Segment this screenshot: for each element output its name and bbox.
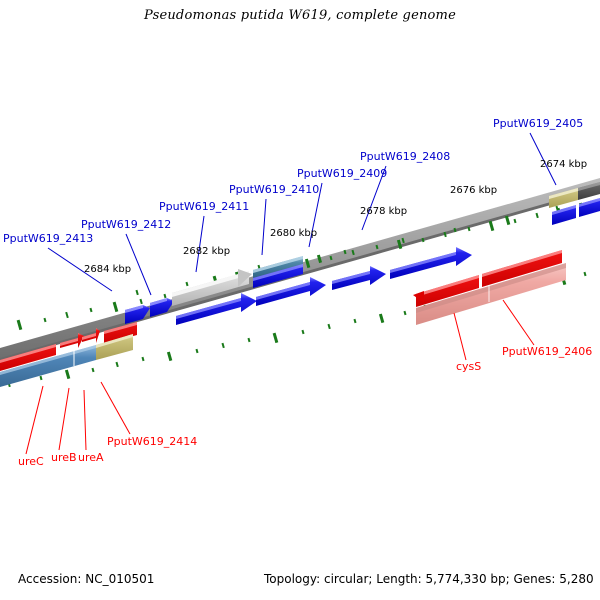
scale-label-2674-kbp: 2674 kbp xyxy=(540,159,587,170)
leader-line-ureC xyxy=(26,386,43,454)
scale-label-2680-kbp: 2680 kbp xyxy=(270,228,317,239)
gene-label-PputW619_2410[interactable]: PputW619_2410 xyxy=(229,183,319,196)
genome-map[interactable]: PputW619_2413PputW619_2412PputW619_2411P… xyxy=(0,0,600,600)
gene-PputW619_2408a[interactable] xyxy=(332,266,386,290)
leader-line-PputW619_2410 xyxy=(262,199,266,255)
footer-accession: Accession: NC_010501 xyxy=(18,572,154,586)
scale-label-2684-kbp: 2684 kbp xyxy=(84,264,131,275)
gene-label-PputW619_2414[interactable]: PputW619_2414 xyxy=(107,435,197,448)
gene-label-ureC[interactable]: ureC xyxy=(18,455,44,468)
gene-PputW619_2408[interactable] xyxy=(390,247,472,279)
gene-label-ureA[interactable]: ureA xyxy=(78,451,104,464)
gene-label-PputW619_2411[interactable]: PputW619_2411 xyxy=(159,200,249,213)
gene-label-PputW619_2406[interactable]: PputW619_2406 xyxy=(502,345,592,358)
gene-PputW619_2405b[interactable] xyxy=(552,205,576,225)
leader-line-PputW619_2406 xyxy=(503,300,534,345)
genome-viewer: Pseudomonas putida W619, complete genome xyxy=(0,0,600,600)
leader-line-cysS xyxy=(454,313,466,360)
footer-stats: Topology: circular; Length: 5,774,330 bp… xyxy=(264,572,594,586)
gene-label-PputW619_2409[interactable]: PputW619_2409 xyxy=(297,167,387,180)
scale-label-2682-kbp: 2682 kbp xyxy=(183,246,230,257)
scale-label-2678-kbp: 2678 kbp xyxy=(360,206,407,217)
leader-line-PputW619_2411 xyxy=(196,216,204,272)
gene-label-PputW619_2408[interactable]: PputW619_2408 xyxy=(360,150,450,163)
scale-label-2676-kbp: 2676 kbp xyxy=(450,185,497,196)
gene-label-cysS[interactable]: cysS xyxy=(456,360,481,373)
leader-line-PputW619_2414 xyxy=(101,382,130,434)
gene-label-PputW619_2413[interactable]: PputW619_2413 xyxy=(3,232,93,245)
leader-line-ureA xyxy=(84,390,86,450)
gene-PputW619_2404b[interactable] xyxy=(579,198,600,217)
gene-label-PputW619_2405[interactable]: PputW619_2405 xyxy=(493,117,583,130)
gene-label-ureB[interactable]: ureB xyxy=(51,451,77,464)
leader-line-ureB xyxy=(59,388,69,450)
gene-label-PputW619_2412[interactable]: PputW619_2412 xyxy=(81,218,171,231)
